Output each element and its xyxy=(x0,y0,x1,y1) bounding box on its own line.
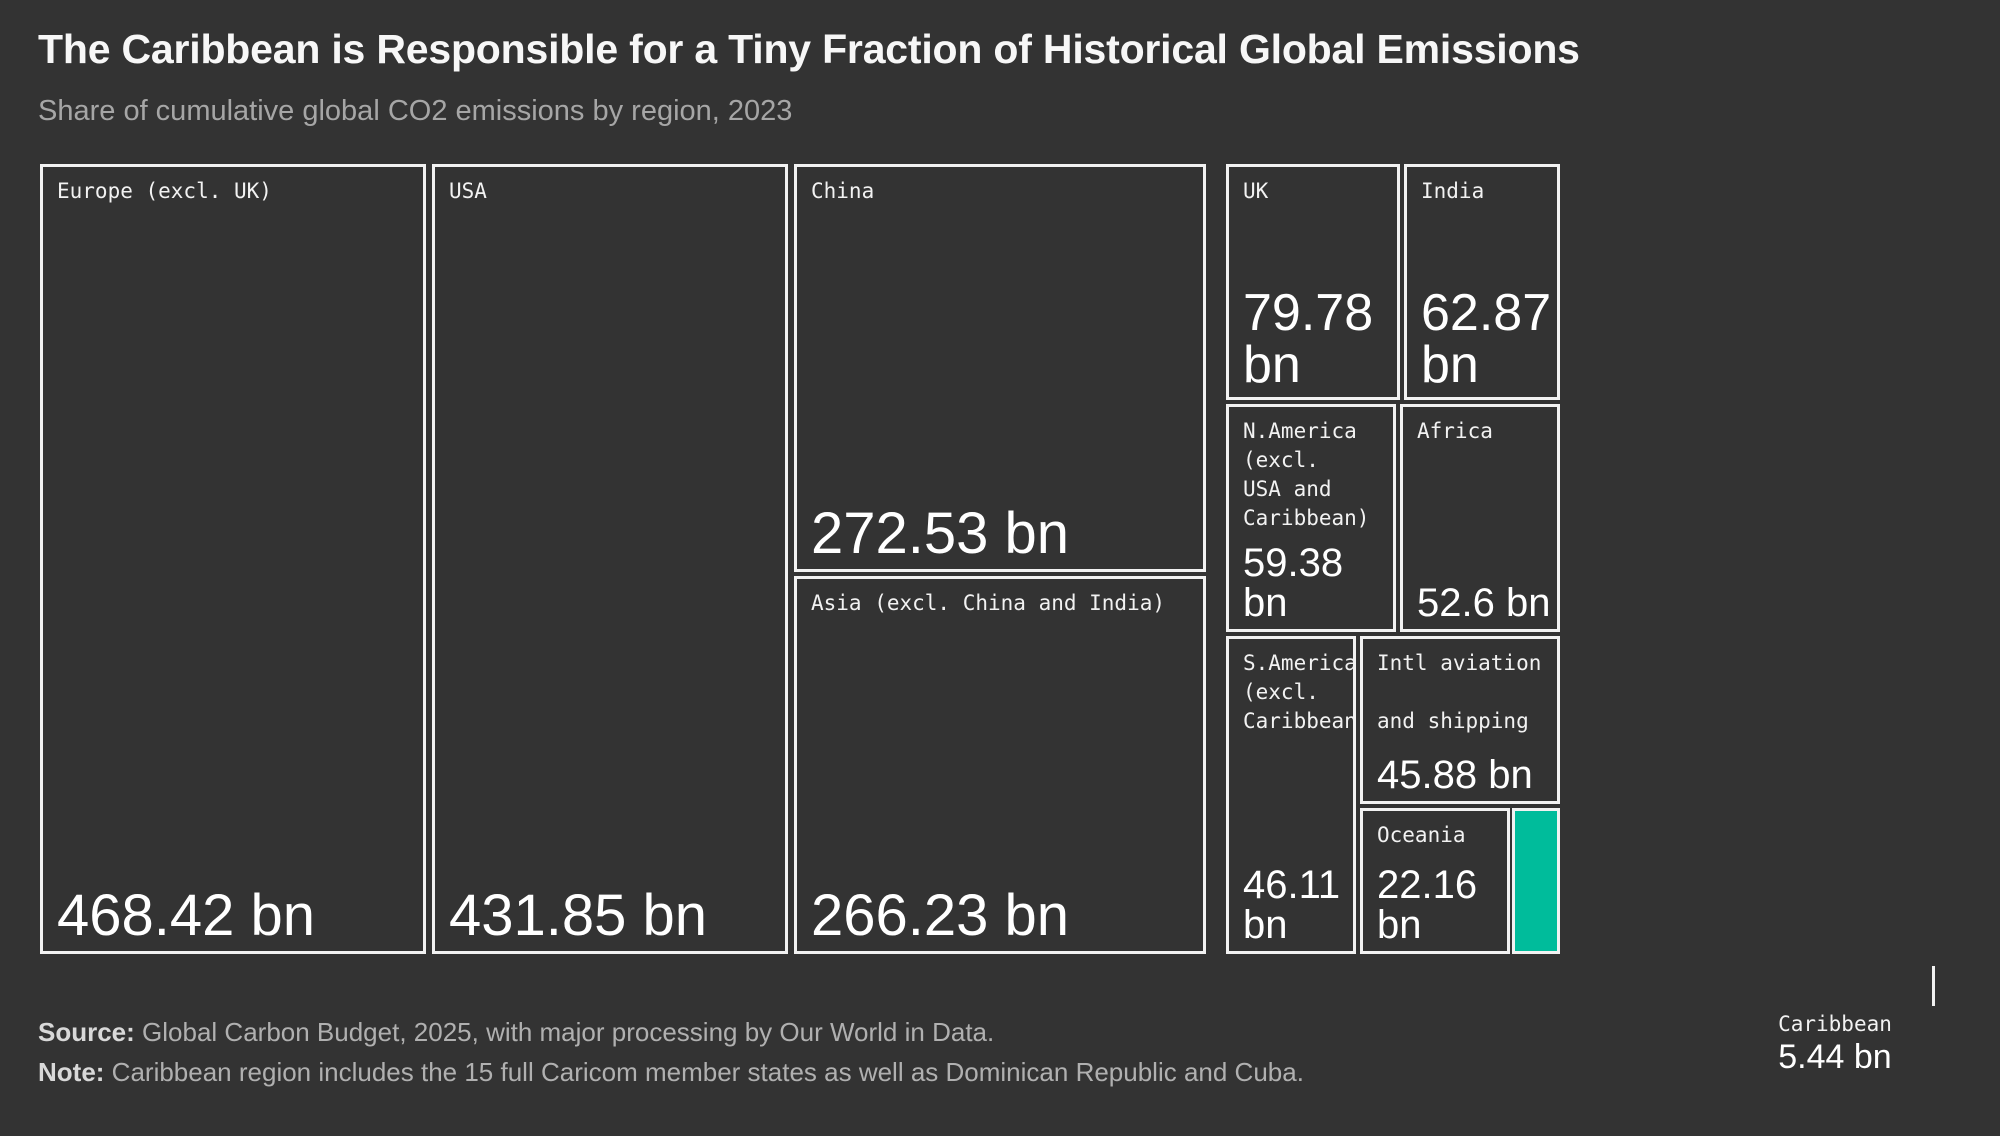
treemap: Europe (excl. UK) 468.42 bn USA 431.85 b… xyxy=(40,164,1960,966)
treemap-cell-value: 272.53 bn xyxy=(811,505,1197,563)
treemap-cell-caribbean[interactable] xyxy=(1512,808,1560,954)
treemap-cell-value: 62.87 bn xyxy=(1421,287,1551,391)
treemap-cell-value: 45.88 bn xyxy=(1377,755,1551,795)
treemap-cell-value: 46.11 bn xyxy=(1243,865,1347,945)
treemap-cell-value: 266.23 bn xyxy=(811,887,1197,945)
treemap-cell-label: Africa xyxy=(1417,417,1549,446)
footer-note-line: Note: Caribbean region includes the 15 f… xyxy=(38,1052,1304,1092)
footer-source-text: Global Carbon Budget, 2025, with major p… xyxy=(142,1017,994,1047)
treemap-cell-label: N.America (excl. USA and Caribbean) xyxy=(1243,417,1385,533)
treemap-cell-oceania[interactable]: Oceania 22.16 bn xyxy=(1360,808,1510,954)
treemap-cell-africa[interactable]: Africa 52.6 bn xyxy=(1400,404,1560,632)
treemap-cell-europe[interactable]: Europe (excl. UK) 468.42 bn xyxy=(40,164,426,954)
treemap-cell-label: S.America (excl. Caribbean) xyxy=(1243,649,1345,736)
treemap-cell-label: UK xyxy=(1243,177,1389,206)
footer-source-line: Source: Global Carbon Budget, 2025, with… xyxy=(38,1012,1304,1052)
treemap-cell-uk[interactable]: UK 79.78 bn xyxy=(1226,164,1400,400)
treemap-cell-label: Europe (excl. UK) xyxy=(57,177,415,206)
footer-note-text: Caribbean region includes the 15 full Ca… xyxy=(112,1057,1304,1087)
treemap-cell-label: China xyxy=(811,177,1195,206)
footer-note-label: Note: xyxy=(38,1057,104,1087)
treemap-cell-label: Oceania xyxy=(1377,821,1499,850)
treemap-cell-china[interactable]: China 272.53 bn xyxy=(794,164,1206,572)
treemap-cell-value: 22.16 bn xyxy=(1377,865,1501,945)
treemap-cell-value: 431.85 bn xyxy=(449,887,779,945)
page-subtitle: Share of cumulative global CO2 emissions… xyxy=(38,95,792,128)
treemap-cell-label: Asia (excl. China and India) xyxy=(811,589,1195,618)
treemap-cell-label: USA xyxy=(449,177,777,206)
footer-source-label: Source: xyxy=(38,1017,135,1047)
footer: Source: Global Carbon Budget, 2025, with… xyxy=(38,1012,1304,1092)
treemap-cell-value: 59.38 bn xyxy=(1243,543,1387,623)
treemap-cell-north-america[interactable]: N.America (excl. USA and Caribbean) 59.3… xyxy=(1226,404,1396,632)
caribbean-annotation-value: 5.44 bn xyxy=(1700,1038,1970,1076)
treemap-cell-value: 79.78 bn xyxy=(1243,287,1391,391)
treemap-cell-intl-aviation-shipping[interactable]: Intl aviation and shipping 45.88 bn xyxy=(1360,636,1560,804)
treemap-cell-value: 52.6 bn xyxy=(1417,583,1551,623)
treemap-cell-asia[interactable]: Asia (excl. China and India) 266.23 bn xyxy=(794,576,1206,954)
caribbean-annotation: Caribbean 5.44 bn xyxy=(1700,1010,1970,1076)
chart-root: The Caribbean is Responsible for a Tiny … xyxy=(0,0,2000,1136)
caribbean-annotation-label: Caribbean xyxy=(1700,1010,1970,1038)
treemap-cell-label: Intl aviation and shipping xyxy=(1377,649,1549,736)
page-title: The Caribbean is Responsible for a Tiny … xyxy=(38,26,1580,73)
treemap-cell-value: 468.42 bn xyxy=(57,887,417,945)
treemap-cell-label: India xyxy=(1421,177,1549,206)
treemap-cell-south-america[interactable]: S.America (excl. Caribbean) 46.11 bn xyxy=(1226,636,1356,954)
treemap-cell-usa[interactable]: USA 431.85 bn xyxy=(432,164,788,954)
treemap-cell-india[interactable]: India 62.87 bn xyxy=(1404,164,1560,400)
caribbean-leader-line xyxy=(1932,966,1935,1006)
